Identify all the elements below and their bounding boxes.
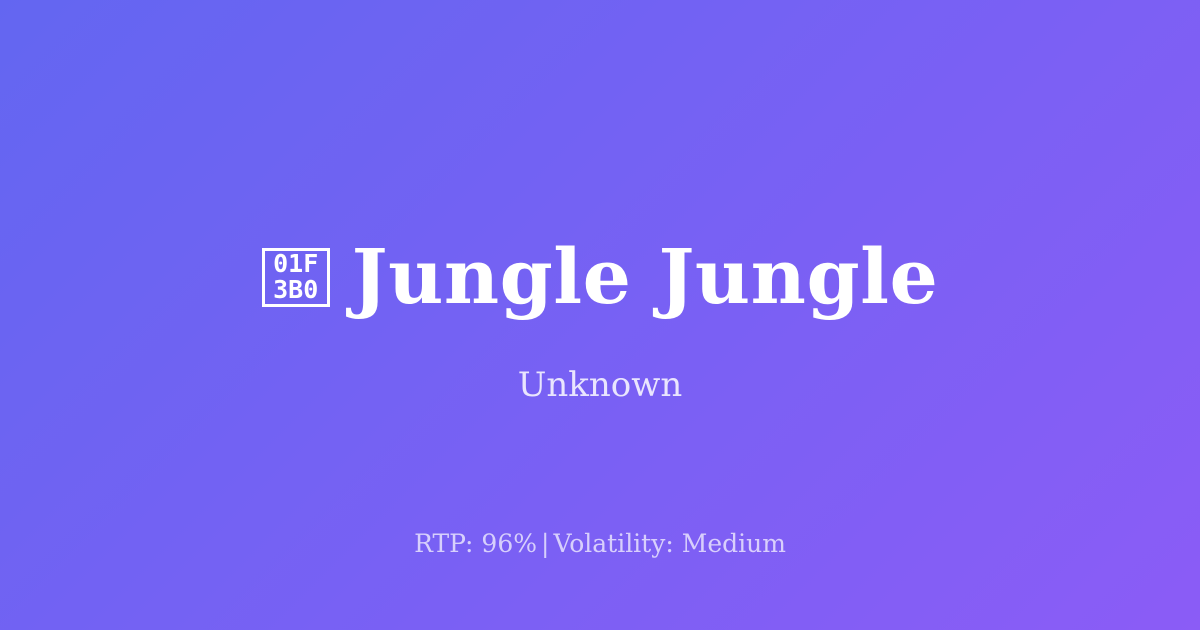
provider-subtitle: Unknown bbox=[0, 362, 1200, 408]
slot-machine-icon-codepoint-bottom: 3B0 bbox=[273, 277, 318, 303]
volatility-value: Volatility: Medium bbox=[553, 529, 785, 558]
og-preview-card: 01F 3B0 Jungle Jungle Unknown RTP: 96%|V… bbox=[0, 0, 1200, 630]
slot-machine-icon: 01F 3B0 bbox=[262, 248, 330, 307]
game-meta: RTP: 96%|Volatility: Medium bbox=[0, 527, 1200, 561]
title-row: 01F 3B0 Jungle Jungle bbox=[0, 232, 1200, 322]
page-title: Jungle Jungle bbox=[352, 232, 939, 322]
rtp-value: RTP: 96% bbox=[414, 529, 537, 558]
meta-separator: | bbox=[537, 529, 553, 558]
slot-machine-icon-codepoint-top: 01F bbox=[273, 251, 318, 277]
